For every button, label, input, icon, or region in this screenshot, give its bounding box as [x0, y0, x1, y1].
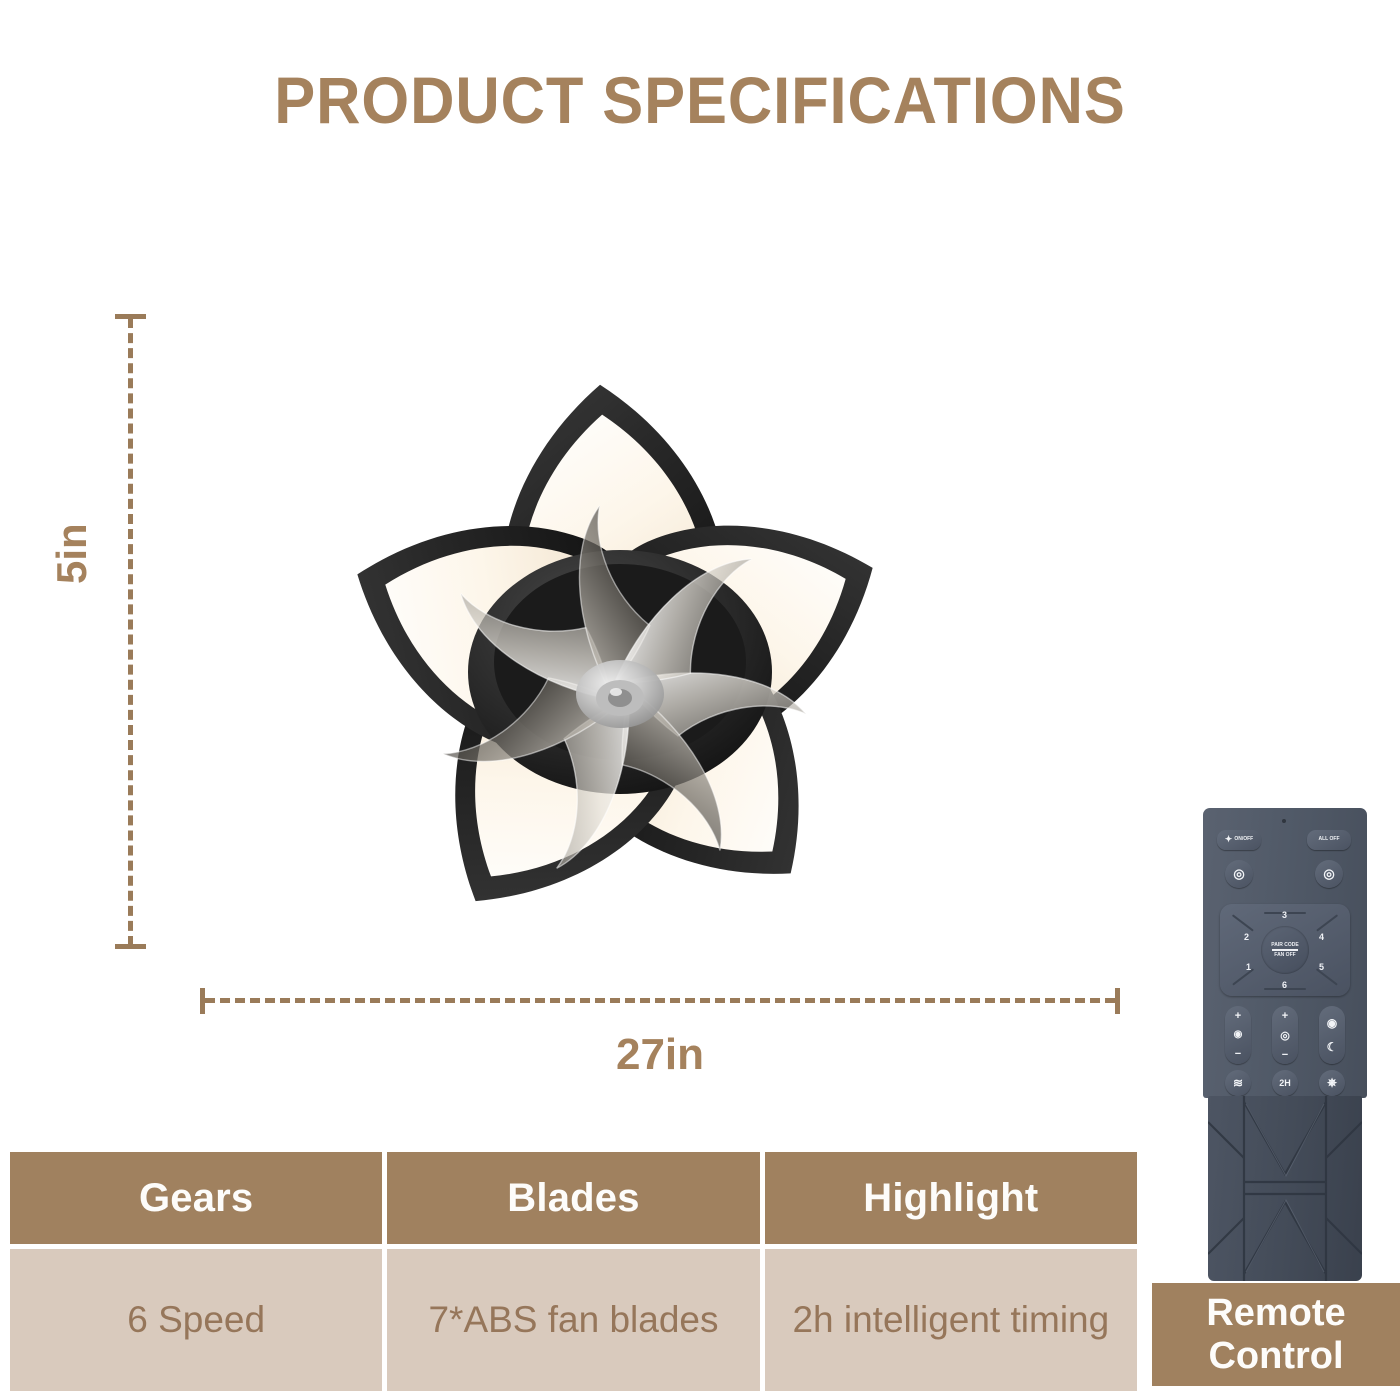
- table-cell-blades-value: 7*ABS fan blades: [387, 1249, 759, 1391]
- product-image-ceiling-fan: [120, 320, 1120, 980]
- pair-code-fan-off-button[interactable]: PAIR CODE FAN OFF: [1261, 926, 1309, 974]
- fan-icon: ✵: [1327, 1076, 1337, 1090]
- remote-lower-grip: [1208, 1096, 1362, 1281]
- brightness-control[interactable]: + ◉ −: [1225, 1006, 1251, 1064]
- pair-code-label: PAIR CODE: [1271, 942, 1298, 948]
- fan-hub: [576, 660, 664, 728]
- day-night-mode-control[interactable]: ◉ ☾: [1319, 1006, 1345, 1064]
- table-header-highlight: Highlight: [765, 1152, 1137, 1244]
- wave-icon: ≋: [1233, 1076, 1243, 1090]
- fan-illustration: [120, 320, 1120, 980]
- speed-button-3[interactable]: 3: [1282, 910, 1287, 920]
- power-button-label: ON/OFF: [1234, 837, 1253, 842]
- dimension-cap-right: [1115, 988, 1120, 1014]
- night-mode-icon[interactable]: ☾: [1327, 1040, 1338, 1054]
- width-dimension-line: [200, 988, 1120, 1014]
- light-bulb-icon: ◎: [1233, 867, 1244, 881]
- plus-icon[interactable]: +: [1282, 1010, 1288, 1022]
- product-specification-page: PRODUCT SPECIFICATIONS 5in 27in: [0, 0, 1400, 1400]
- color-temp-icon: ◎: [1280, 1029, 1290, 1042]
- light-bulb-icon: ◎: [1323, 867, 1334, 881]
- remote-control-caption: Remote Control: [1152, 1283, 1400, 1386]
- button-divider: [1272, 949, 1298, 951]
- color-temperature-control[interactable]: + ◎ −: [1272, 1006, 1298, 1064]
- remote-upper-body: ✦ ON/OFF ALL OFF ◎ ◎ 1 2: [1203, 808, 1367, 1098]
- grip-texture: [1208, 1096, 1362, 1281]
- caption-line-2: Control: [1208, 1335, 1343, 1378]
- dimension-dashed-line-horizontal: [205, 998, 1115, 1003]
- timer-label: 2H: [1279, 1078, 1291, 1088]
- speed-button-4[interactable]: 4: [1319, 932, 1324, 942]
- light-left-button[interactable]: ◎: [1225, 860, 1253, 888]
- speed-dpad[interactable]: 1 2 3 4 5 6 PAIR CODE FAN OFF: [1220, 904, 1350, 996]
- table-header-gears: Gears: [10, 1152, 382, 1244]
- width-dimension-label: 27in: [200, 1030, 1120, 1080]
- page-title: PRODUCT SPECIFICATIONS: [49, 62, 1351, 138]
- power-on-off-button[interactable]: ✦ ON/OFF: [1217, 830, 1261, 850]
- specification-table: Gears Blades Highlight 6 Speed 7*ABS fan…: [10, 1152, 1137, 1386]
- timer-2h-button[interactable]: 2H: [1272, 1070, 1298, 1096]
- breeze-mode-button[interactable]: ≋: [1225, 1070, 1251, 1096]
- dpad-spoke: [1232, 914, 1254, 931]
- remote-control-image: ✦ ON/OFF ALL OFF ◎ ◎ 1 2: [1203, 808, 1367, 1283]
- day-mode-icon[interactable]: ◉: [1327, 1016, 1337, 1030]
- ir-led-indicator: [1282, 819, 1286, 823]
- speed-button-1[interactable]: 1: [1246, 962, 1251, 972]
- plus-icon[interactable]: +: [1235, 1010, 1241, 1022]
- all-off-button-label: ALL OFF: [1318, 837, 1339, 842]
- speed-button-6[interactable]: 6: [1282, 980, 1287, 990]
- height-dimension-label: 5in: [48, 523, 96, 584]
- table-header-blades: Blades: [387, 1152, 759, 1244]
- speed-button-2[interactable]: 2: [1244, 932, 1249, 942]
- speed-button-5[interactable]: 5: [1319, 962, 1324, 972]
- minus-icon[interactable]: −: [1282, 1049, 1288, 1061]
- light-right-button[interactable]: ◎: [1315, 860, 1343, 888]
- all-off-button[interactable]: ALL OFF: [1307, 830, 1351, 850]
- caption-line-1: Remote: [1206, 1292, 1345, 1335]
- brightness-icon: ◉: [1234, 1029, 1243, 1040]
- fan-off-label: FAN OFF: [1274, 952, 1295, 958]
- minus-icon[interactable]: −: [1235, 1048, 1241, 1060]
- fan-mode-button[interactable]: ✵: [1319, 1070, 1345, 1096]
- dpad-spoke: [1316, 914, 1338, 931]
- gear-icon: ✦: [1225, 835, 1233, 844]
- table-cell-gears-value: 6 Speed: [10, 1249, 382, 1391]
- table-cell-highlight-value: 2h intelligent timing: [765, 1249, 1137, 1391]
